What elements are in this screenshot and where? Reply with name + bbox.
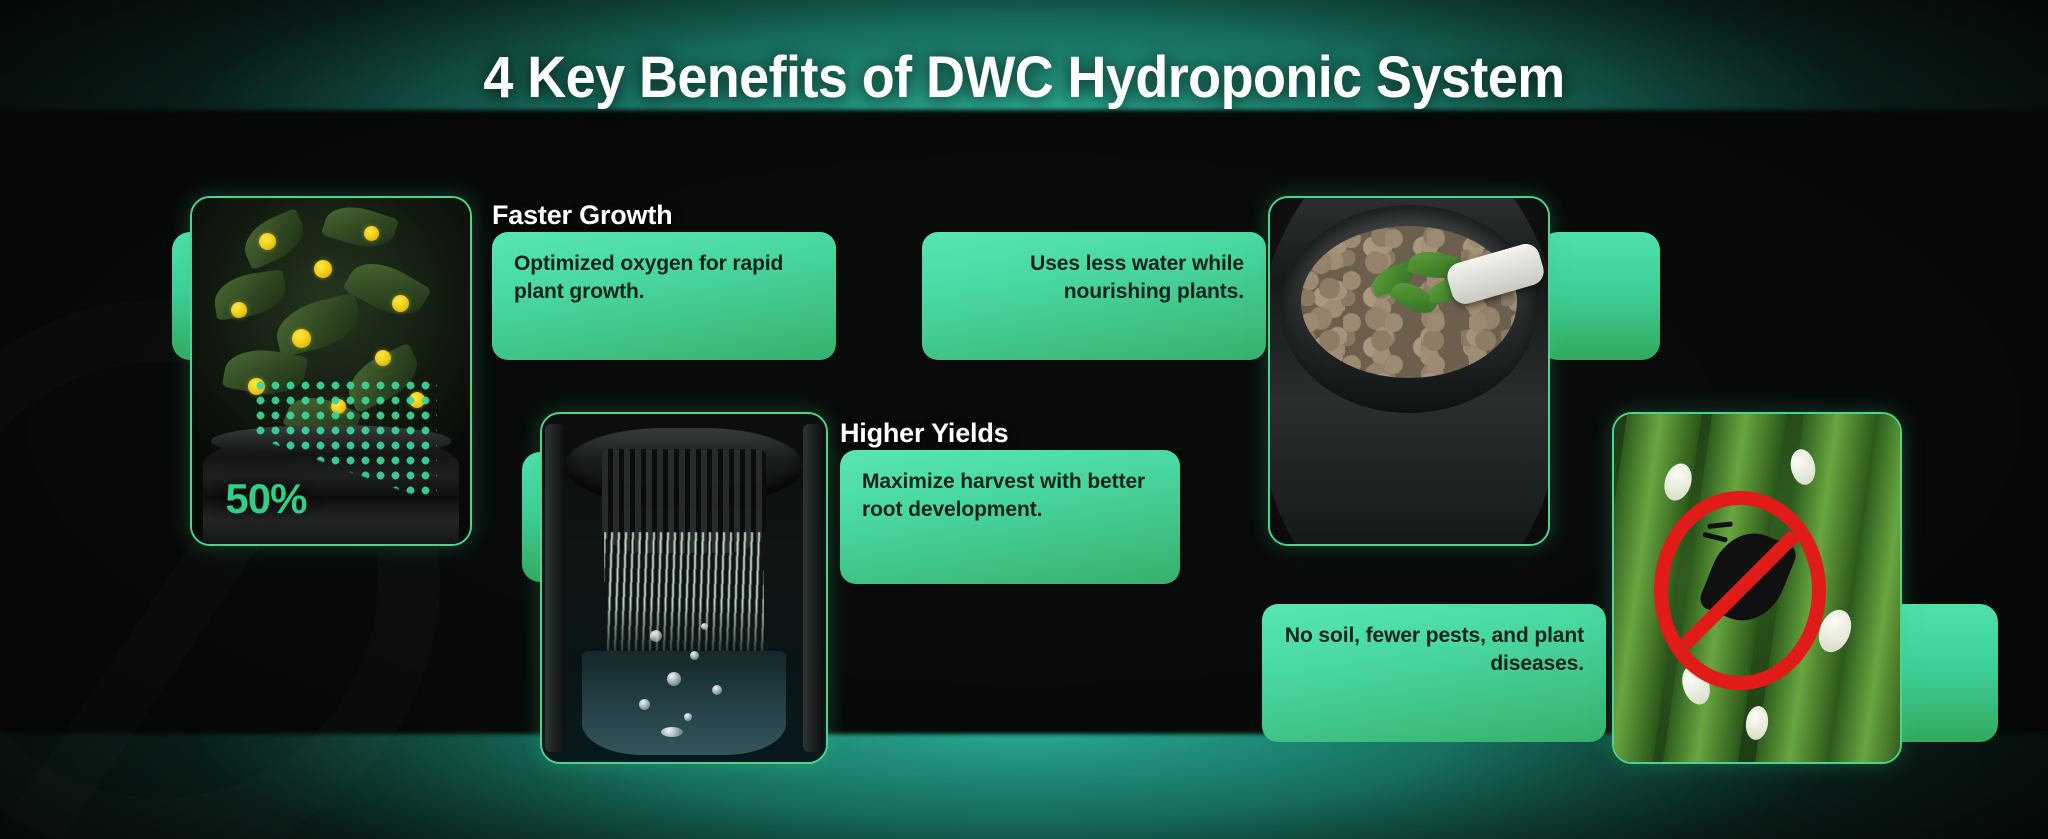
water-efficient-accent-slab [1540,232,1660,360]
faster-growth-panel: Optimized oxygen for rapid plant growth. [492,232,836,360]
dwc-bucket-roots-image [542,414,826,762]
water-efficient-panel: Uses less water while nourishing plants. [922,232,1266,360]
infographic-canvas: 4 Key Benefits of DWC Hydroponic System [0,0,2048,839]
page-title: 4 Key Benefits of DWC Hydroponic System [72,48,1977,109]
net-pot-pebbles-image [1270,198,1548,544]
faster-growth-body: Optimized oxygen for rapid plant growth. [514,250,814,306]
flowering-plant-image: 50% [192,198,470,544]
pest-on-leaf-image [1614,414,1900,762]
fewer-pests-panel: No soil, fewer pests, and plant diseases… [1262,604,1606,742]
higher-yields-panel: Maximize harvest with better root develo… [840,450,1180,584]
higher-yields-body: Maximize harvest with better root develo… [862,468,1158,524]
water-efficient-photo [1268,196,1550,546]
higher-yields-photo [540,412,828,764]
faster-growth-heading: Faster Growth [492,200,672,231]
faster-growth-photo: 50% [190,196,472,546]
fewer-pests-body: No soil, fewer pests, and plant diseases… [1284,622,1584,678]
nutrient-water [582,651,787,755]
water-efficient-body: Uses less water while nourishing plants. [944,250,1244,306]
root-mass [604,532,763,650]
higher-yields-heading: Higher Yields [840,418,1008,449]
fewer-pests-photo [1612,412,1902,764]
prohibition-sign-icon [1654,491,1826,691]
growth-percent-badge: 50% [225,475,306,523]
